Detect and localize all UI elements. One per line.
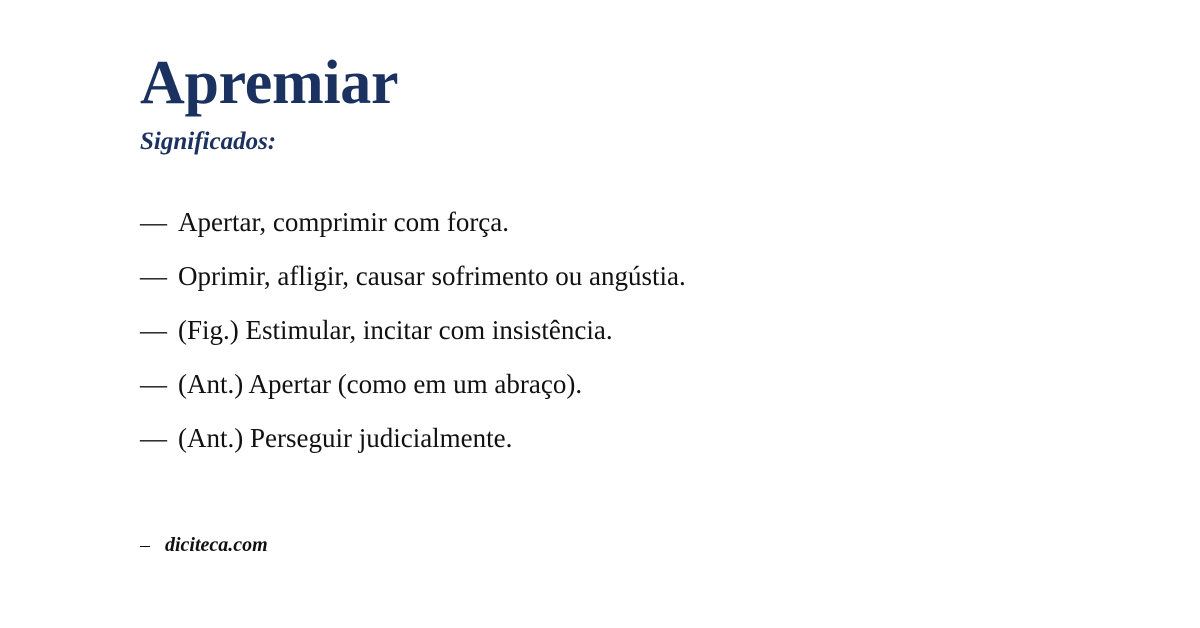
page-title: Apremiar [140,52,398,114]
list-item: — Apertar, comprimir com força. [140,207,1140,261]
list-item: — (Ant.) Perseguir judicialmente. [140,423,1140,477]
em-dash-bullet-icon: — [140,261,178,292]
definition-text: Oprimir, afligir, causar sofrimento ou a… [178,261,686,292]
subtitle-significados: Significados: [140,129,276,154]
definition-text: (Ant.) Perseguir judicialmente. [178,423,512,454]
definition-text: (Ant.) Apertar (como em um abraço). [178,369,582,400]
list-item: — (Ant.) Apertar (como em um abraço). [140,369,1140,423]
definition-list: — Apertar, comprimir com força. — Oprimi… [140,207,1140,477]
em-dash-bullet-icon: — [140,423,178,454]
list-item: — Oprimir, afligir, causar sofrimento ou… [140,261,1140,315]
dictionary-entry-card: Apremiar Significados: — Apertar, compri… [0,0,1200,628]
em-dash-bullet-icon: — [140,369,178,400]
definition-text: Apertar, comprimir com força. [178,207,509,238]
source-attribution: – diciteca.com [140,534,268,557]
definition-text: (Fig.) Estimular, incitar com insistênci… [178,315,613,346]
em-dash-bullet-icon: — [140,315,178,346]
list-item: — (Fig.) Estimular, incitar com insistên… [140,315,1140,369]
em-dash-bullet-icon: — [140,207,178,238]
dash-icon: – [140,534,165,557]
source-name: diciteca.com [165,534,268,557]
